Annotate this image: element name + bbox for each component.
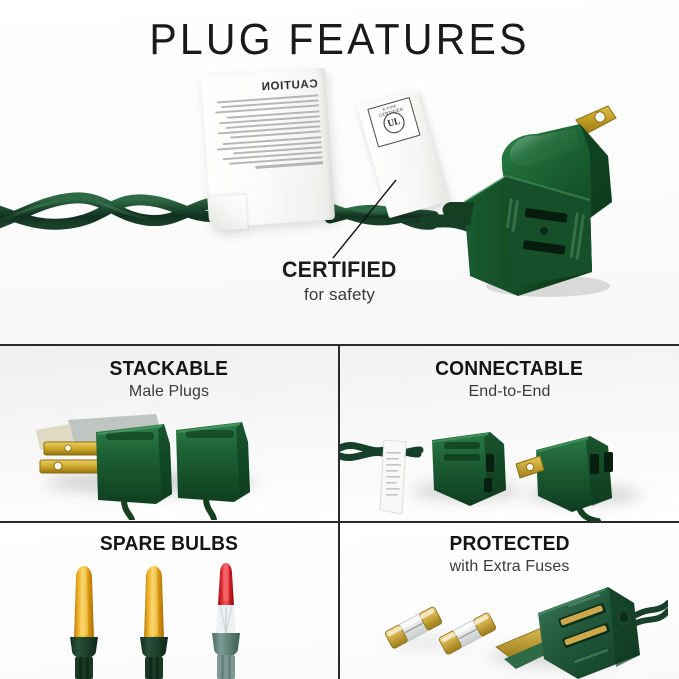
bulb-amber-2 [140, 566, 168, 679]
end-to-end-plugs-image [340, 410, 679, 521]
plug-right [516, 436, 613, 521]
brass-prongs [40, 442, 102, 473]
small-hang-tag [380, 440, 406, 514]
glass-fuse-1 [384, 606, 442, 649]
panel-spare-bulbs-title: SPARE BULBS [100, 533, 238, 556]
callout-leader-line [300, 170, 440, 270]
certified-callout: CERTIFIED for safety [0, 258, 679, 305]
infographic-sheet: PLUG FEATURES [0, 0, 679, 679]
spare-bulbs-image [52, 561, 282, 679]
panel-stackable-subtitle: Male Plugs [0, 383, 338, 401]
hero-panel: PLUG FEATURES [0, 0, 679, 344]
panel-stackable: STACKABLE Male Plugs [0, 346, 338, 521]
plug-left [432, 432, 506, 506]
panel-protected-title: PROTECTED [449, 533, 569, 556]
page-title: PLUG FEATURES [0, 18, 679, 61]
panel-connectable-title: CONNECTABLE [436, 358, 584, 381]
tag-curl [207, 195, 247, 232]
panel-connectable: CONNECTABLE End-to-End [340, 346, 679, 521]
glass-fuse-2 [438, 612, 496, 655]
callout-title: CERTIFIED [282, 258, 397, 282]
stacked-male-plugs-image [28, 408, 278, 520]
panel-protected: PROTECTED with Extra Fuses [340, 523, 679, 679]
callout-subtitle: for safety [0, 285, 679, 305]
fuse-holder-plug [496, 587, 640, 679]
caution-tag-body [213, 94, 324, 171]
panel-stackable-title: STACKABLE [110, 358, 229, 381]
panel-spare-bulbs: SPARE BULBS [0, 523, 338, 679]
panel-connectable-subtitle: End-to-End [340, 383, 679, 401]
fuses-and-fuse-holder-image [368, 573, 668, 679]
bulb-amber-1 [70, 566, 98, 679]
caution-tag-heading: CAUTION [212, 78, 318, 96]
bulb-red-1 [212, 563, 240, 679]
